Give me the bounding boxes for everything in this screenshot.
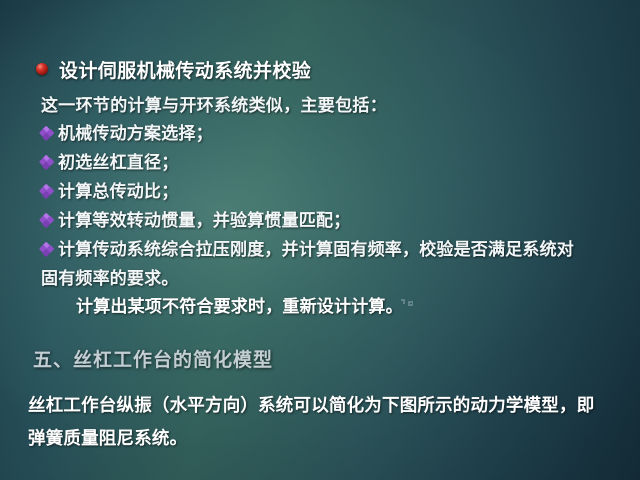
intro-row: 这一环节的计算与开环系统类似，主要包括： bbox=[41, 91, 387, 116]
red-sphere-bullet-icon bbox=[36, 63, 48, 75]
note-row: 计算出某项不符合要求时，重新设计计算。 bbox=[76, 292, 403, 317]
purple-diamond-bullet-icon bbox=[40, 185, 53, 198]
section-heading-row: 五、丝杠工作台的简化模型 bbox=[33, 345, 273, 372]
presentation-slide: 设计伺服机械传动系统并校验 这一环节的计算与开环系统类似，主要包括： 机械传动方… bbox=[0, 0, 640, 480]
intro-text: 这一环节的计算与开环系统类似，主要包括： bbox=[41, 91, 387, 116]
closing-paragraph-line-1: 丝杠工作台纵振（水平方向）系统可以简化为下图所示的动力学模型，即 bbox=[28, 392, 594, 417]
section-heading: 五、丝杠工作台的简化模型 bbox=[33, 345, 273, 372]
list-item-label: 计算等效转动惯量，并验算惯量匹配； bbox=[58, 206, 350, 231]
slide-content-layer: 设计伺服机械传动系统并校验 这一环节的计算与开环系统类似，主要包括： 机械传动方… bbox=[0, 0, 640, 480]
slide-title-row: 设计伺服机械传动系统并校验 bbox=[36, 56, 311, 83]
list-item: 计算总传动比； bbox=[40, 177, 178, 202]
closing-paragraph-line-2: 弹簧质量阻尼系统。 bbox=[28, 425, 187, 450]
list-item: 初选丝杠直径； bbox=[40, 148, 178, 173]
page-title: 设计伺服机械传动系统并校验 bbox=[59, 56, 311, 83]
purple-diamond-bullet-icon bbox=[40, 243, 53, 256]
note-text: 计算出某项不符合要求时，重新设计计算。 bbox=[76, 292, 403, 317]
purple-diamond-bullet-icon bbox=[40, 214, 53, 227]
list-item: 计算等效转动惯量，并验算惯量匹配； bbox=[40, 206, 350, 231]
list-item: 计算传动系统综合拉压刚度，并计算固有频率，校验是否满足系统对 bbox=[40, 235, 574, 260]
list-item-label: 初选丝杠直径； bbox=[58, 148, 178, 173]
watermark-artifact-icon bbox=[401, 299, 414, 307]
purple-diamond-bullet-icon bbox=[40, 156, 53, 169]
list-item: 机械传动方案选择； bbox=[40, 119, 213, 144]
list-item-continuation-row: 固有频率的要求。 bbox=[41, 264, 179, 289]
list-item-label: 计算传动系统综合拉压刚度，并计算固有频率，校验是否满足系统对 bbox=[58, 235, 574, 260]
closing-paragraph-line-2-row: 弹簧质量阻尼系统。 bbox=[28, 425, 187, 450]
list-item-label: 计算总传动比； bbox=[58, 177, 178, 202]
closing-paragraph-line-1-row: 丝杠工作台纵振（水平方向）系统可以简化为下图所示的动力学模型，即 bbox=[28, 392, 594, 417]
purple-diamond-bullet-icon bbox=[40, 127, 53, 140]
list-item-continuation: 固有频率的要求。 bbox=[41, 264, 179, 289]
list-item-label: 机械传动方案选择； bbox=[58, 119, 213, 144]
